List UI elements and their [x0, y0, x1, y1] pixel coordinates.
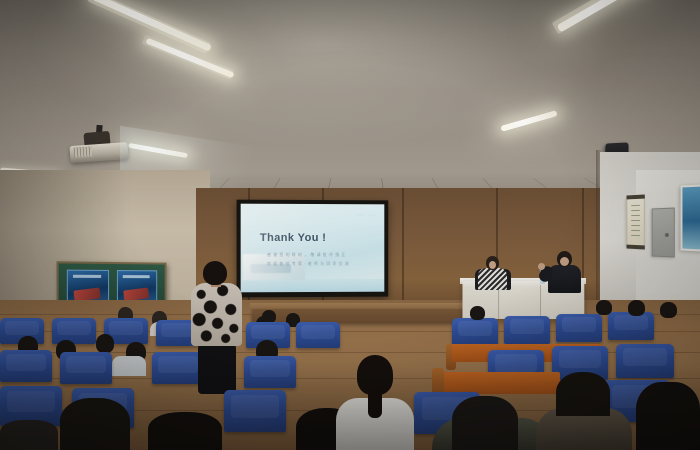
audience-head [96, 334, 114, 353]
audience-head [628, 300, 645, 316]
seat [52, 318, 96, 344]
audience-head [470, 306, 485, 320]
presenter-man-face [560, 257, 569, 266]
seat [556, 314, 602, 342]
seat [0, 350, 52, 382]
wall-control-panel [652, 207, 675, 257]
audience-head [596, 300, 612, 315]
slide-title: Thank You ! [260, 232, 326, 244]
presenter-woman-body [478, 268, 507, 290]
seat [244, 356, 296, 388]
standing-attendee-jacket [191, 283, 242, 346]
seat [616, 344, 674, 378]
standing-attendee-head [203, 261, 227, 285]
projection-screen: ····· ···· Thank You ! 感谢您的聆听，敬请批评指正 欢迎各… [241, 204, 385, 293]
slide-logo: ····· ···· [356, 213, 375, 217]
audience-torso [112, 356, 146, 376]
wall-panel-seam [402, 188, 404, 318]
foreground-attendee-head [148, 412, 222, 450]
foreground-attendee-ponytail [368, 388, 382, 418]
seat [224, 390, 286, 432]
slide-subtitle-line-1: 感谢您的聆听，敬请批评指正 [267, 252, 348, 258]
presenter-man-body [548, 265, 581, 293]
seat [608, 312, 654, 340]
presenter-man-hand [538, 263, 545, 270]
projector-vent [74, 146, 93, 157]
standing-attendee-legs [198, 344, 236, 394]
scroll-text-lines [631, 205, 640, 239]
foreground-attendee-head [636, 382, 700, 450]
seat [296, 322, 340, 348]
foreground-attendee-head [60, 398, 130, 450]
seat-back-panel [440, 372, 560, 394]
audience-head [660, 302, 677, 318]
slide-subtitle-line-2: 欢迎各位专家·老师与同学交流 [267, 261, 351, 267]
blue-wall-poster [681, 184, 700, 251]
hanging-scroll [627, 197, 645, 248]
lecture-hall-photo: ····· ···· Thank You ! 感谢您的聆听，敬请批评指正 欢迎各… [0, 0, 700, 450]
seat [152, 352, 204, 384]
slide-footer-band [241, 279, 385, 293]
seat [504, 316, 550, 344]
foreground-attendee-head [0, 420, 58, 450]
seat [452, 318, 498, 346]
projection-screen-frame: ····· ···· Thank You ! 感谢您的聆听，敬请批评指正 欢迎各… [237, 200, 389, 298]
foreground-attendee-head [556, 372, 610, 416]
foreground-attendee-head [452, 396, 518, 450]
seat [60, 352, 112, 384]
presenter-woman-face [489, 261, 496, 269]
